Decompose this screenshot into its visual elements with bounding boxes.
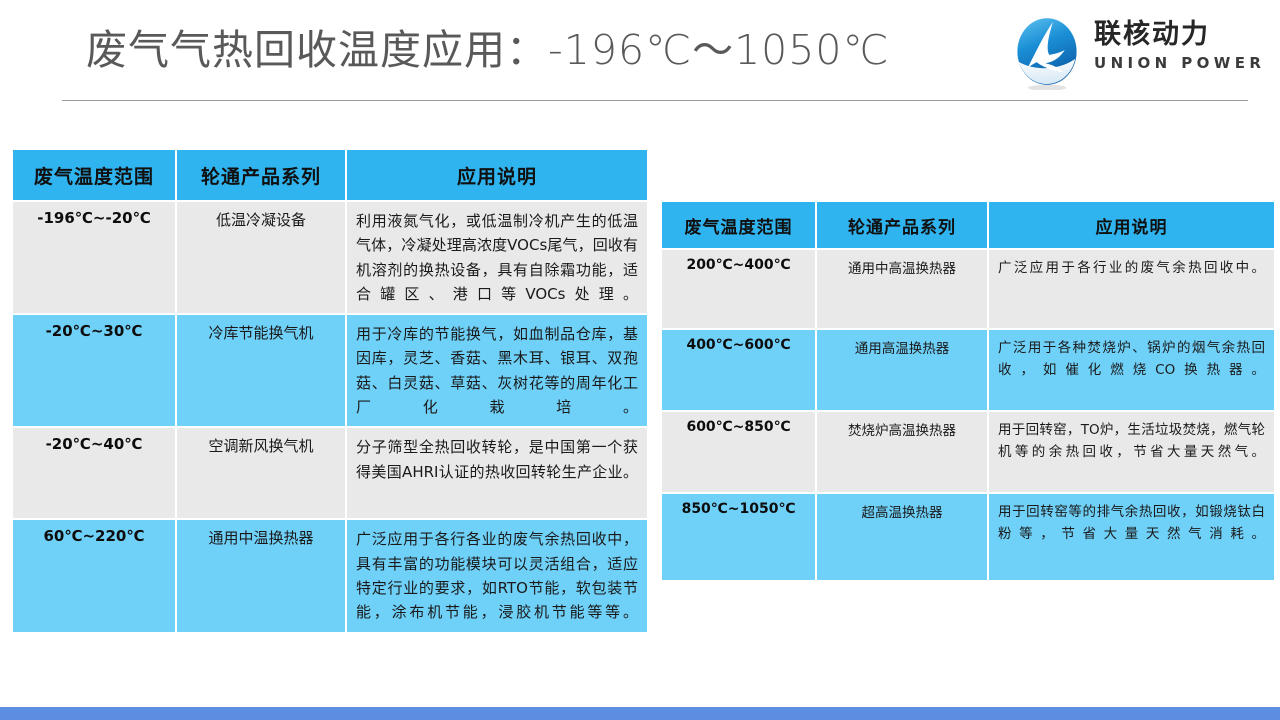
cell-product-series: 低温冷凝设备 xyxy=(177,202,345,313)
cell-product-series: 通用中高温换热器 xyxy=(817,250,987,328)
cell-product-series: 冷库节能换气机 xyxy=(177,315,345,426)
table-row: -20℃~30℃ 冷库节能换气机 用于冷库的节能换气，如血制品仓库，基因库，灵芝… xyxy=(13,315,647,426)
cell-application-note: 用于回转窑等的排气余热回收，如锻烧钛白粉等，节省大量天然气消耗。 xyxy=(989,494,1274,580)
logo-name-en: UNION POWER xyxy=(1094,54,1262,72)
column-header-product-series: 轮通产品系列 xyxy=(817,202,987,248)
logo-name-cn: 联核动力 xyxy=(1094,20,1262,50)
column-header-product-series: 轮通产品系列 xyxy=(177,150,345,200)
cell-product-series: 通用高温换热器 xyxy=(817,330,987,410)
table-row: 200℃~400℃ 通用中高温换热器 广泛应用于各行业的废气余热回收中。 xyxy=(662,250,1274,328)
cell-temperature-range: 400℃~600℃ xyxy=(662,330,815,410)
cell-product-series: 通用中温换热器 xyxy=(177,520,345,631)
page-title: 废气气热回收温度应用：-196℃～1050℃ xyxy=(86,28,889,73)
exhaust-temperature-table-left: 废气温度范围 轮通产品系列 应用说明 -196℃~-20℃ 低温冷凝设备 利用液… xyxy=(11,148,649,634)
cell-application-note: 用于冷库的节能换气，如血制品仓库，基因库，灵芝、香菇、黑木耳、银耳、双孢菇、白灵… xyxy=(347,315,647,426)
company-logo: 联核动力 UNION POWER xyxy=(1010,14,1262,94)
cell-temperature-range: 200℃~400℃ xyxy=(662,250,815,328)
cell-product-series: 焚烧炉高温换热器 xyxy=(817,412,987,492)
cell-product-series: 超高温换热器 xyxy=(817,494,987,580)
cell-temperature-range: -196℃~-20℃ xyxy=(13,202,175,313)
table-row: -20℃~40℃ 空调新风换气机 分子筛型全热回收转轮，是中国第一个获得美国AH… xyxy=(13,428,647,518)
column-header-temperature-range: 废气温度范围 xyxy=(662,202,815,248)
table-row: 600℃~850℃ 焚烧炉高温换热器 用于回转窑，TO炉，生活垃圾焚烧，燃气轮机… xyxy=(662,412,1274,492)
cell-temperature-range: 600℃~850℃ xyxy=(662,412,815,492)
page-header: 废气气热回收温度应用：-196℃～1050℃ 联核动力 xyxy=(0,0,1280,104)
column-header-application-note: 应用说明 xyxy=(347,150,647,200)
footer-accent-bar xyxy=(0,707,1280,720)
cell-application-note: 广泛用于各种焚烧炉、锅炉的烟气余热回收，如催化燃烧CO换热器。 xyxy=(989,330,1274,410)
table-row: -196℃~-20℃ 低温冷凝设备 利用液氮气化，或低温制冷机产生的低温气体，冷… xyxy=(13,202,647,313)
table-row: 850℃~1050℃ 超高温换热器 用于回转窑等的排气余热回收，如锻烧钛白粉等，… xyxy=(662,494,1274,580)
table-row: 60℃~220℃ 通用中温换热器 广泛应用于各行各业的废气余热回收中，具有丰富的… xyxy=(13,520,647,631)
cell-temperature-range: 60℃~220℃ xyxy=(13,520,175,631)
table-header-row: 废气温度范围 轮通产品系列 应用说明 xyxy=(662,202,1274,248)
cell-temperature-range: -20℃~30℃ xyxy=(13,315,175,426)
union-power-globe-icon xyxy=(1010,16,1084,90)
title-divider xyxy=(62,100,1248,101)
cell-application-note: 用于回转窑，TO炉，生活垃圾焚烧，燃气轮机等的余热回收，节省大量天然气。 xyxy=(989,412,1274,492)
logo-wordmark: 联核动力 UNION POWER xyxy=(1094,20,1262,72)
table-header-row: 废气温度范围 轮通产品系列 应用说明 xyxy=(13,150,647,200)
cell-temperature-range: 850℃~1050℃ xyxy=(662,494,815,580)
cell-product-series: 空调新风换气机 xyxy=(177,428,345,518)
cell-application-note: 广泛应用于各行各业的废气余热回收中，具有丰富的功能模块可以灵活组合，适应特定行业… xyxy=(347,520,647,631)
cell-application-note: 分子筛型全热回收转轮，是中国第一个获得美国AHRI认证的热收回转轮生产企业。 xyxy=(347,428,647,518)
cell-application-note: 广泛应用于各行业的废气余热回收中。 xyxy=(989,250,1274,328)
column-header-temperature-range: 废气温度范围 xyxy=(13,150,175,200)
exhaust-temperature-table-right: 废气温度范围 轮通产品系列 应用说明 200℃~400℃ 通用中高温换热器 广泛… xyxy=(660,200,1276,582)
cell-temperature-range: -20℃~40℃ xyxy=(13,428,175,518)
column-header-application-note: 应用说明 xyxy=(989,202,1274,248)
cell-application-note: 利用液氮气化，或低温制冷机产生的低温气体，冷凝处理高浓度VOCs尾气，回收有机溶… xyxy=(347,202,647,313)
table-row: 400℃~600℃ 通用高温换热器 广泛用于各种焚烧炉、锅炉的烟气余热回收，如催… xyxy=(662,330,1274,410)
